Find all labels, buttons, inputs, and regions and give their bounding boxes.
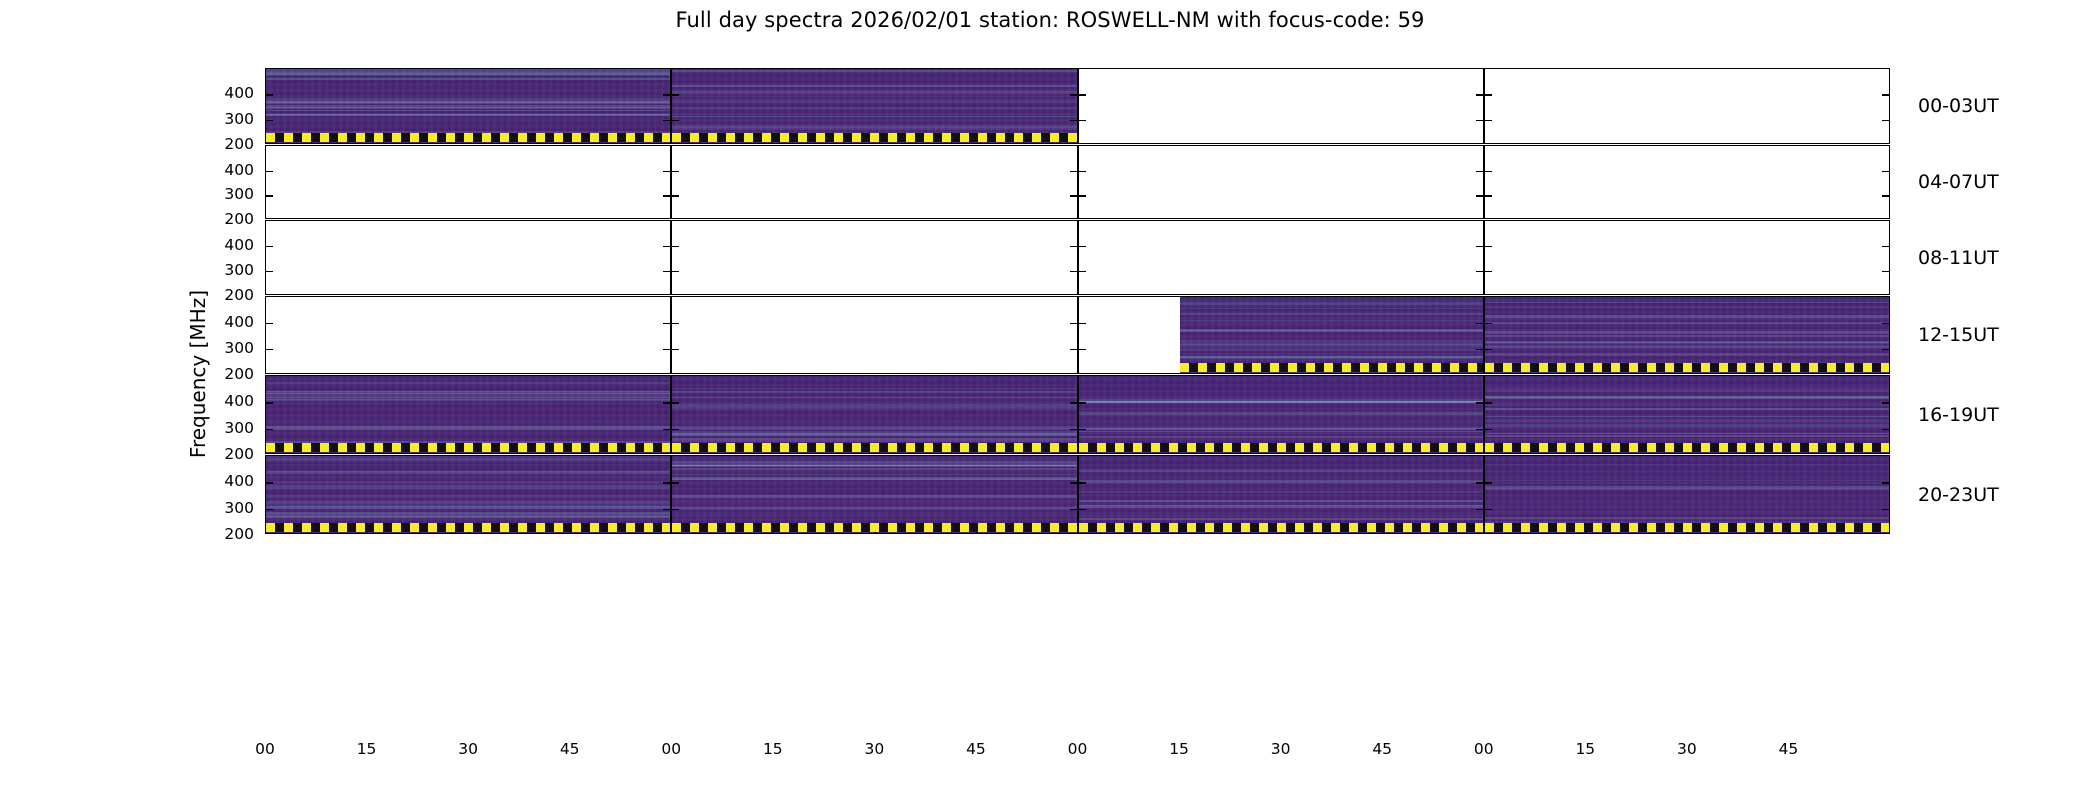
y-tick-mark: [672, 323, 679, 324]
spectrogram-image: [1485, 376, 1889, 453]
y-tick-label: 300: [198, 261, 254, 279]
y-tick-label-group: 400300200: [198, 296, 254, 374]
y-tick-mark: [1882, 323, 1889, 324]
y-tick-mark: [1070, 246, 1077, 247]
row-label-04-07ut: 04-07UT: [1918, 171, 1999, 193]
y-tick-mark: [1079, 171, 1086, 172]
y-tick-mark: [1485, 429, 1492, 430]
y-tick-mark: [1070, 509, 1077, 510]
y-tick-mark: [266, 171, 273, 172]
y-tick-mark: [1485, 171, 1492, 172]
x-tick-label: 00: [1068, 740, 1088, 758]
subpanel-hour-10[interactable]: [1078, 220, 1484, 295]
spectrogram-image: [1485, 456, 1889, 533]
y-tick-mark: [1079, 246, 1086, 247]
panel-row-16-19ut: [265, 375, 1890, 454]
subpanel-hour-14[interactable]: [1078, 296, 1484, 374]
y-tick-mark: [1882, 349, 1889, 350]
y-tick-mark: [1079, 120, 1086, 121]
y-tick-mark: [1070, 482, 1077, 483]
subpanel-hour-22[interactable]: [1078, 455, 1484, 534]
y-tick-mark: [1882, 195, 1889, 196]
y-tick-label-group: 400300200: [198, 220, 254, 295]
y-tick-mark: [1485, 323, 1492, 324]
y-tick-mark: [266, 402, 273, 403]
x-tick-label: 45: [1779, 740, 1799, 758]
subpanel-hour-04[interactable]: [265, 145, 671, 219]
spectrogram-image: [1079, 376, 1483, 453]
y-tick-mark: [663, 120, 670, 121]
y-tick-mark: [1070, 271, 1077, 272]
y-tick-label: 300: [198, 419, 254, 437]
frequency-marker-line: [1485, 523, 1889, 532]
y-tick-mark: [672, 120, 679, 121]
y-tick-mark: [1079, 509, 1086, 510]
subpanel-hour-08[interactable]: [265, 220, 671, 295]
y-tick-mark: [1476, 509, 1483, 510]
frequency-marker-line: [672, 443, 1076, 452]
y-tick-mark: [266, 246, 273, 247]
subpanel-hour-19[interactable]: [1484, 375, 1890, 454]
y-tick-mark: [1079, 271, 1086, 272]
subpanel-hour-16[interactable]: [265, 375, 671, 454]
y-tick-mark: [1476, 171, 1483, 172]
x-tick-label: 30: [458, 740, 478, 758]
y-tick-label: 400: [198, 313, 254, 331]
y-tick-mark: [672, 429, 679, 430]
frequency-marker-line: [1485, 363, 1889, 372]
y-tick-mark: [663, 171, 670, 172]
y-tick-mark: [663, 195, 670, 196]
y-tick-mark: [672, 349, 679, 350]
frequency-marker-line: [266, 443, 670, 452]
frequency-marker-line: [1180, 363, 1483, 372]
y-tick-mark: [266, 323, 273, 324]
y-tick-mark: [1476, 482, 1483, 483]
spectrogram-image: [1485, 297, 1889, 373]
y-tick-mark: [1476, 246, 1483, 247]
subpanel-hour-02[interactable]: [1078, 68, 1484, 144]
y-tick-mark: [1476, 402, 1483, 403]
subpanel-hour-00[interactable]: [265, 68, 671, 144]
y-tick-mark: [672, 195, 679, 196]
subpanel-hour-06[interactable]: [1078, 145, 1484, 219]
y-tick-label: 300: [198, 185, 254, 203]
subpanel-hour-13[interactable]: [671, 296, 1077, 374]
subpanel-hour-07[interactable]: [1484, 145, 1890, 219]
spectrogram-image: [1079, 456, 1483, 533]
x-tick-label: 45: [560, 740, 580, 758]
subpanel-hour-09[interactable]: [671, 220, 1077, 295]
frequency-marker-line: [266, 523, 670, 532]
y-tick-mark: [663, 323, 670, 324]
y-tick-mark: [1070, 195, 1077, 196]
y-tick-mark: [1476, 323, 1483, 324]
x-tick-label: 00: [1474, 740, 1494, 758]
row-label-08-11ut: 08-11UT: [1918, 247, 1999, 269]
y-tick-mark: [266, 271, 273, 272]
y-tick-mark: [1476, 120, 1483, 121]
subpanel-hour-12[interactable]: [265, 296, 671, 374]
subpanel-hour-21[interactable]: [671, 455, 1077, 534]
x-tick-label: 30: [1271, 740, 1291, 758]
y-tick-mark: [1485, 271, 1492, 272]
y-tick-mark: [663, 482, 670, 483]
y-tick-mark: [1882, 94, 1889, 95]
y-tick-label: 400: [198, 236, 254, 254]
frequency-marker-line: [672, 523, 1076, 532]
x-axis-tick-labels: 00153045001530450015304500153045: [265, 740, 1890, 766]
x-tick-label: 45: [1372, 740, 1392, 758]
y-tick-mark: [1485, 120, 1492, 121]
y-tick-mark: [1079, 429, 1086, 430]
y-tick-mark: [1882, 120, 1889, 121]
subpanel-hour-23[interactable]: [1484, 455, 1890, 534]
x-tick-label: 15: [1169, 740, 1189, 758]
frequency-marker-line: [1485, 443, 1889, 452]
y-tick-mark: [266, 509, 273, 510]
y-tick-mark: [1070, 402, 1077, 403]
y-tick-mark: [672, 94, 679, 95]
y-tick-label: 300: [198, 499, 254, 517]
y-tick-mark: [1485, 509, 1492, 510]
y-tick-label-group: 400300200: [198, 68, 254, 144]
y-tick-mark: [1079, 195, 1086, 196]
frequency-marker-line: [1079, 523, 1483, 532]
page-title: Full day spectra 2026/02/01 station: ROS…: [0, 8, 2100, 32]
y-tick-label-group: 400300200: [198, 375, 254, 454]
spectrogram-image: [672, 456, 1076, 533]
y-tick-mark: [1070, 323, 1077, 324]
x-tick-label: 45: [966, 740, 986, 758]
y-tick-label-group: 400300200: [198, 145, 254, 219]
y-tick-mark: [1070, 120, 1077, 121]
y-tick-mark: [1079, 323, 1086, 324]
frequency-marker-line: [1079, 443, 1483, 452]
row-label-00-03ut: 00-03UT: [1918, 95, 1999, 117]
spectrogram-image: [1180, 297, 1483, 373]
y-tick-mark: [1070, 171, 1077, 172]
y-tick-mark: [663, 402, 670, 403]
y-tick-mark: [266, 94, 273, 95]
y-tick-label-group: 400300200: [198, 455, 254, 534]
y-tick-mark: [672, 246, 679, 247]
y-tick-label: 300: [198, 339, 254, 357]
x-tick-label: 30: [1677, 740, 1697, 758]
y-tick-label: 400: [198, 161, 254, 179]
x-tick-label: 15: [763, 740, 783, 758]
subpanel-hour-01[interactable]: [671, 68, 1077, 144]
panel-row-00-03ut: [265, 68, 1890, 144]
y-tick-mark: [1882, 171, 1889, 172]
y-tick-mark: [1485, 482, 1492, 483]
y-tick-mark: [1485, 94, 1492, 95]
row-label-16-19ut: 16-19UT: [1918, 404, 1999, 426]
y-tick-mark: [663, 246, 670, 247]
x-tick-label: 30: [865, 740, 885, 758]
y-tick-mark: [266, 482, 273, 483]
frequency-marker-line: [672, 133, 1076, 142]
y-tick-mark: [1079, 349, 1086, 350]
panel-row-12-15ut: [265, 296, 1890, 374]
y-tick-mark: [1070, 349, 1077, 350]
y-tick-mark: [266, 195, 273, 196]
y-tick-mark: [1882, 509, 1889, 510]
y-tick-label: 400: [198, 84, 254, 102]
y-tick-mark: [1882, 429, 1889, 430]
panel-row-04-07ut: [265, 145, 1890, 219]
y-tick-mark: [1476, 429, 1483, 430]
spectrogram-image: [266, 376, 670, 453]
row-label-12-15ut: 12-15UT: [1918, 324, 1999, 346]
y-tick-label: 200: [198, 525, 254, 543]
y-tick-mark: [1070, 429, 1077, 430]
y-tick-mark: [672, 271, 679, 272]
y-tick-mark: [1079, 94, 1086, 95]
y-tick-mark: [1882, 246, 1889, 247]
y-tick-mark: [1485, 246, 1492, 247]
y-tick-label: 400: [198, 472, 254, 490]
x-tick-label: 00: [255, 740, 275, 758]
y-tick-mark: [672, 171, 679, 172]
row-label-20-23ut: 20-23UT: [1918, 484, 1999, 506]
frequency-marker-line: [266, 133, 670, 142]
y-tick-mark: [1882, 402, 1889, 403]
subpanel-hour-17[interactable]: [671, 375, 1077, 454]
x-tick-label: 15: [1575, 740, 1595, 758]
y-tick-mark: [1485, 349, 1492, 350]
y-tick-mark: [266, 349, 273, 350]
panel-row-20-23ut: [265, 455, 1890, 534]
y-tick-mark: [266, 120, 273, 121]
x-tick-label: 15: [357, 740, 377, 758]
spectrogram-image: [266, 456, 670, 533]
spectrogram-figure: Full day spectra 2026/02/01 station: ROS…: [0, 0, 2100, 800]
y-tick-mark: [266, 429, 273, 430]
y-tick-mark: [1476, 94, 1483, 95]
subpanel-hour-11[interactable]: [1484, 220, 1890, 295]
spectrogram-image: [672, 69, 1076, 143]
y-tick-mark: [663, 94, 670, 95]
y-tick-mark: [1476, 195, 1483, 196]
y-tick-mark: [1476, 349, 1483, 350]
y-tick-mark: [663, 271, 670, 272]
y-tick-mark: [1882, 271, 1889, 272]
spectrogram-image: [672, 376, 1076, 453]
subpanel-hour-03[interactable]: [1484, 68, 1890, 144]
subpanel-hour-05[interactable]: [671, 145, 1077, 219]
y-tick-mark: [1079, 482, 1086, 483]
y-tick-mark: [672, 402, 679, 403]
y-tick-mark: [672, 509, 679, 510]
y-tick-mark: [1485, 195, 1492, 196]
y-tick-mark: [663, 349, 670, 350]
y-tick-mark: [663, 429, 670, 430]
y-tick-mark: [1485, 402, 1492, 403]
x-tick-label: 00: [661, 740, 681, 758]
y-tick-mark: [1882, 482, 1889, 483]
panel-row-08-11ut: [265, 220, 1890, 295]
y-tick-mark: [663, 509, 670, 510]
spectrogram-image: [266, 69, 670, 143]
y-tick-label: 400: [198, 392, 254, 410]
y-tick-mark: [672, 482, 679, 483]
subpanel-hour-18[interactable]: [1078, 375, 1484, 454]
y-tick-mark: [1476, 271, 1483, 272]
subpanel-hour-15[interactable]: [1484, 296, 1890, 374]
subpanel-hour-20[interactable]: [265, 455, 671, 534]
y-tick-label: 300: [198, 110, 254, 128]
y-tick-mark: [1070, 94, 1077, 95]
y-tick-mark: [1079, 402, 1086, 403]
